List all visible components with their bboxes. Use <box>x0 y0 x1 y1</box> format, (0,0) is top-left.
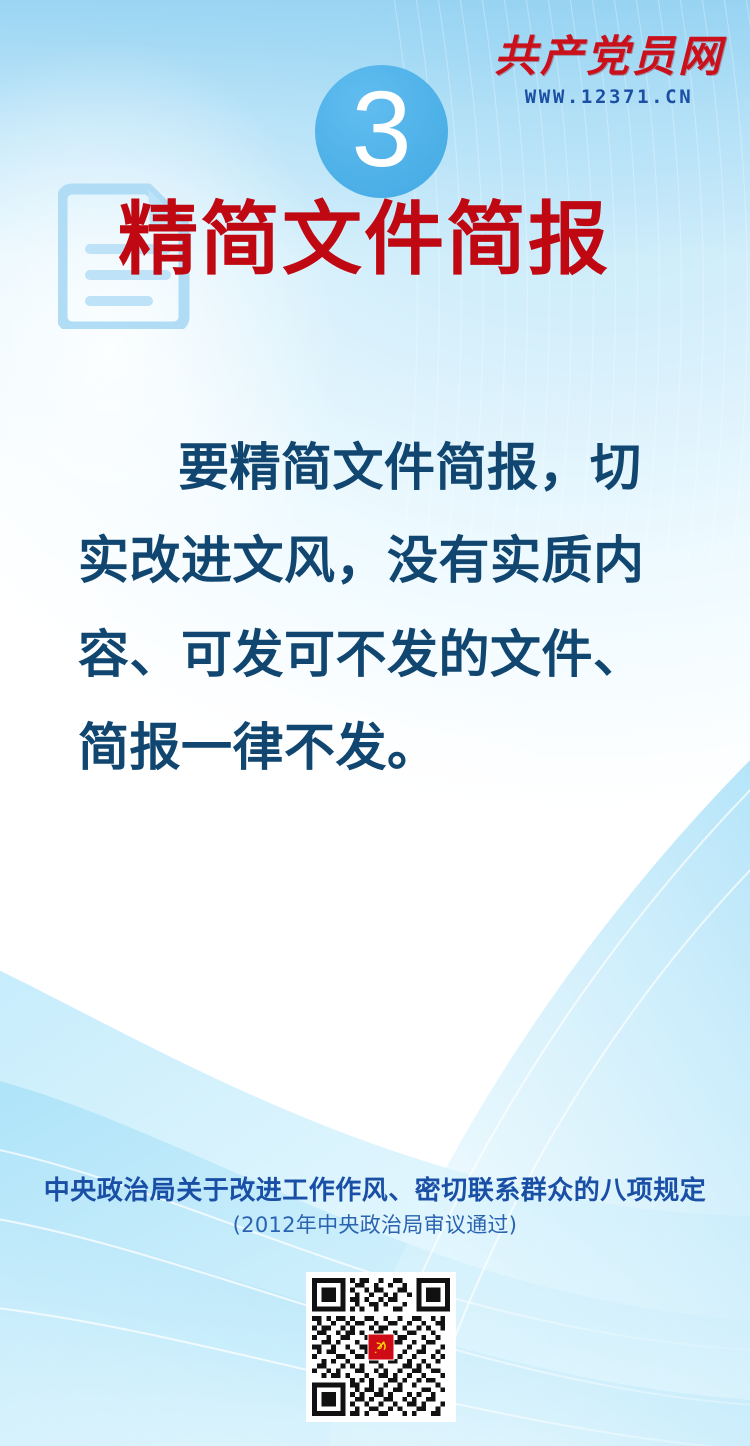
site-logo[interactable]: 共产党员网 WWW.12371.CN <box>494 36 724 108</box>
site-logo-url: WWW.12371.CN <box>494 86 724 108</box>
number-badge: 3 <box>315 65 448 198</box>
party-emblem-icon <box>368 1334 395 1361</box>
number-badge-value: 3 <box>351 75 411 183</box>
poster-root: 共产党员网 WWW.12371.CN 3 精简文件简报 要精简文件简报，切实改进… <box>0 0 750 1446</box>
site-logo-name: 共产党员网 <box>494 36 724 79</box>
footer-regulation-subtitle: (2012年中央政治局审议通过) <box>0 1209 750 1239</box>
footer-regulation-title: 中央政治局关于改进工作作风、密切联系群众的八项规定 <box>0 1170 750 1207</box>
body-paragraph: 要精简文件简报，切实改进文风，没有实质内容、可发可不发的文件、简报一律不发。 <box>78 422 678 795</box>
qr-code[interactable] <box>306 1272 456 1422</box>
page-title: 精简文件简报 <box>118 200 610 280</box>
